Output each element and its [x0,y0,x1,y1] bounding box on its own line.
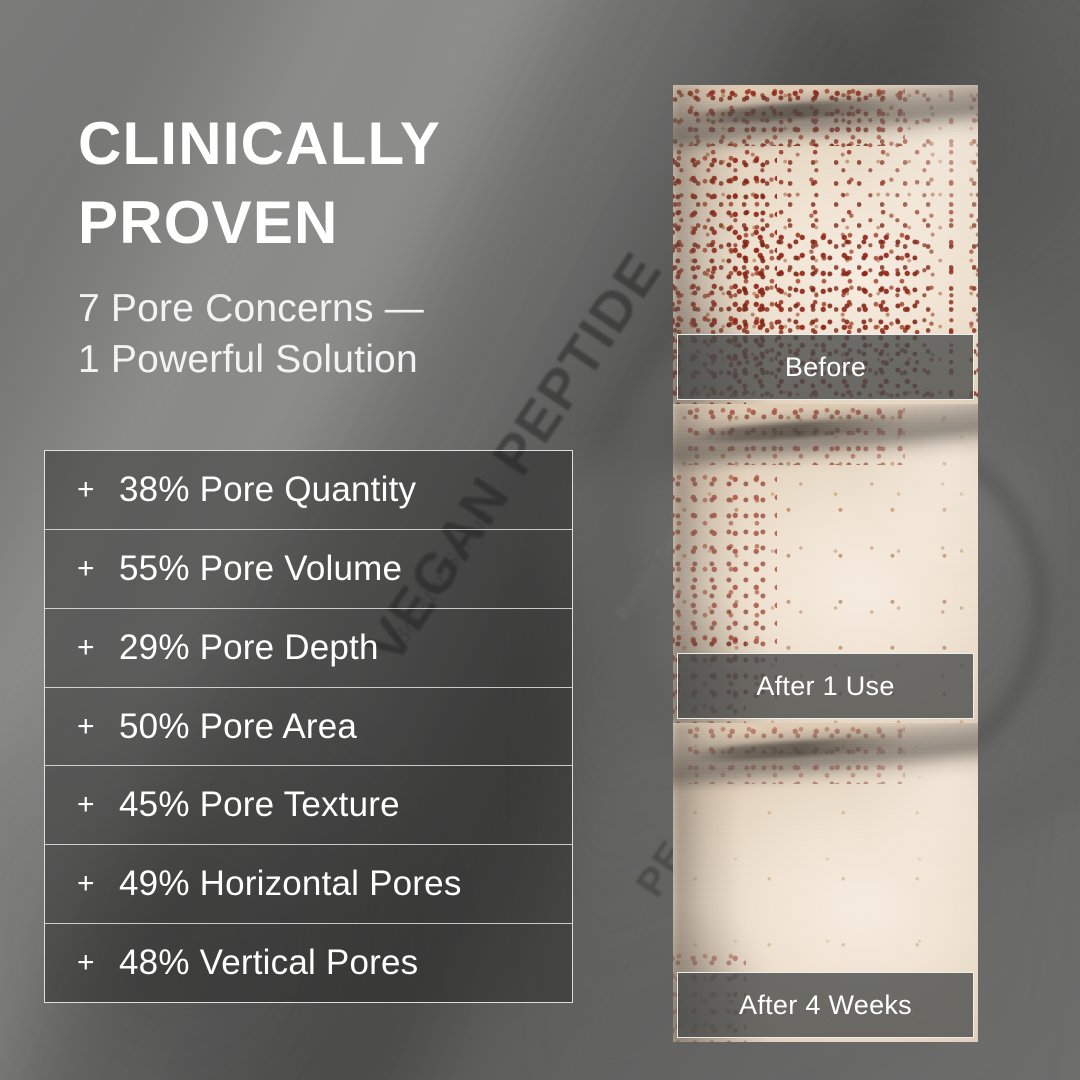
stat-label: 55% Pore Volume [119,549,402,589]
stat-label: 45% Pore Texture [119,785,400,825]
page-subtitle: 7 Pore Concerns — 1 Powerful Solution [78,283,424,386]
stat-row: +38% Pore Quantity [45,451,572,530]
stat-row: +29% Pore Depth [45,609,572,688]
page-title: CLINICALLY PROVEN [78,104,441,262]
stat-value: 55% [119,549,190,588]
plus-icon: + [77,552,119,586]
stat-value: 49% [119,864,190,903]
infographic-canvas: VEGAN PEPTIDE Booster Serum Booster Seru… [0,0,1080,1080]
stat-row: +49% Horizontal Pores [45,845,572,924]
plus-icon: + [77,788,119,822]
stat-metric-name: Pore Volume [200,549,403,588]
stat-label: 48% Vertical Pores [119,943,418,983]
stat-value: 48% [119,943,190,982]
stat-metric-name: Vertical Pores [200,943,419,982]
stat-value: 38% [119,470,190,509]
before-after-photo-stack: BeforeAfter 1 UseAfter 4 Weeks [673,85,978,1042]
skin-photo-panel: After 1 Use [673,404,978,723]
page-subtitle-line-1: 7 Pore Concerns — [78,283,424,334]
plus-icon: + [77,710,119,744]
clinical-results-table: +38% Pore Quantity+55% Pore Volume+29% P… [44,450,573,1003]
plus-icon: + [77,631,119,665]
photo-caption: After 4 Weeks [677,972,974,1038]
stat-row: +50% Pore Area [45,688,572,767]
stat-value: 29% [119,628,190,667]
stat-metric-name: Pore Texture [200,785,400,824]
stat-metric-name: Pore Area [200,707,357,746]
plus-icon: + [77,867,119,901]
stat-row: +45% Pore Texture [45,766,572,845]
stat-row: +48% Vertical Pores [45,924,572,1002]
stat-metric-name: Horizontal Pores [200,864,462,903]
page-subtitle-line-2: 1 Powerful Solution [78,334,424,385]
page-title-line-1: CLINICALLY [78,104,441,183]
stat-label: 29% Pore Depth [119,628,379,668]
skin-photo-panel: After 4 Weeks [673,723,978,1042]
plus-icon: + [77,473,119,507]
stat-metric-name: Pore Depth [200,628,379,667]
stat-row: +55% Pore Volume [45,530,572,609]
stat-label: 50% Pore Area [119,707,357,747]
stat-label: 49% Horizontal Pores [119,864,462,904]
stat-metric-name: Pore Quantity [200,470,417,509]
stat-value: 50% [119,707,190,746]
photo-caption: Before [677,334,974,400]
stat-value: 45% [119,785,190,824]
stat-label: 38% Pore Quantity [119,470,416,510]
skin-photo-panel: Before [673,85,978,404]
plus-icon: + [77,946,119,980]
photo-caption: After 1 Use [677,653,974,719]
page-title-line-2: PROVEN [78,183,441,262]
